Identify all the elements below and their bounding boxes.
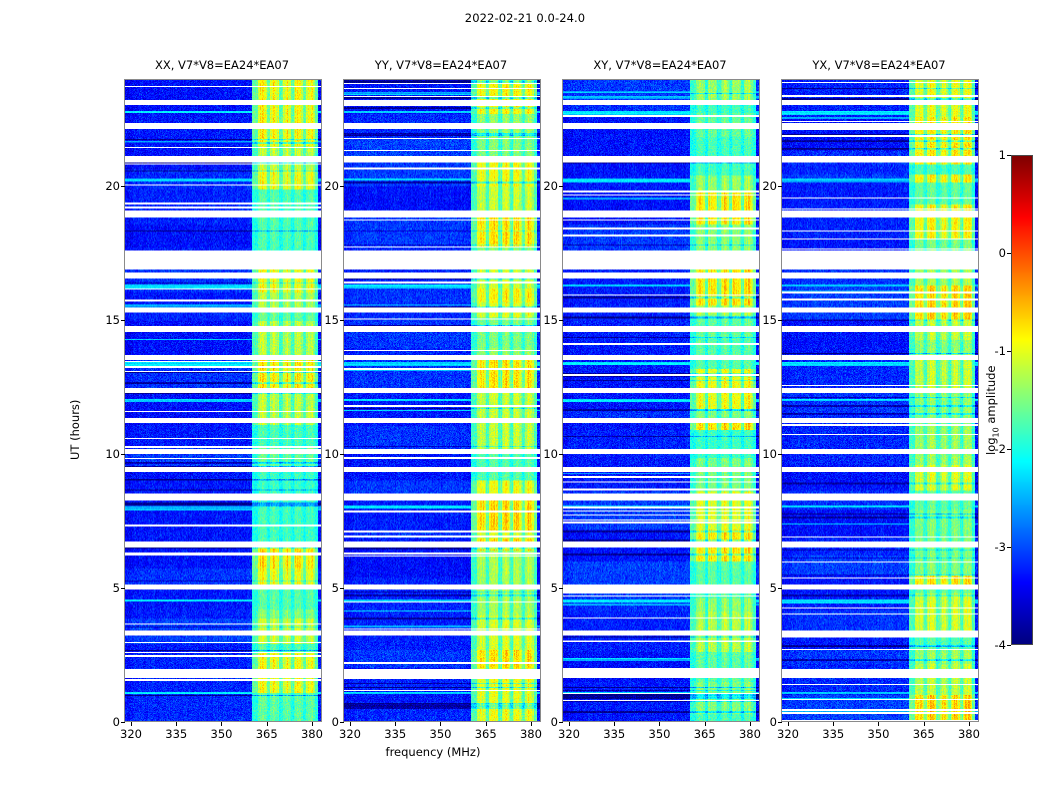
y-tick-mark — [121, 186, 125, 187]
y-tick-label: 0 — [309, 715, 339, 729]
colorbar-tick-mark — [1007, 155, 1011, 156]
y-tick-mark — [559, 588, 563, 589]
y-tick-label: 0 — [747, 715, 777, 729]
y-tick-mark — [778, 186, 782, 187]
y-tick-mark — [121, 588, 125, 589]
colorbar-tick-mark — [1007, 547, 1011, 548]
y-tick-mark — [340, 320, 344, 321]
y-tick-mark — [778, 588, 782, 589]
x-tick-label: 350 — [420, 727, 460, 741]
x-tick-mark — [833, 722, 834, 726]
x-tick-mark — [878, 722, 879, 726]
y-tick-mark — [778, 722, 782, 723]
figure-suptitle: 2022-02-21 0.0-24.0 — [0, 11, 1050, 25]
y-tick-mark — [121, 722, 125, 723]
y-tick-label: 20 — [747, 179, 777, 193]
x-tick-label: 320 — [330, 727, 370, 741]
y-tick-mark — [559, 186, 563, 187]
colorbar-tick-mark — [1007, 253, 1011, 254]
x-tick-mark — [176, 722, 177, 726]
x-tick-label: 335 — [375, 727, 415, 741]
panel-title-xy: XY, V7*V8=EA24*EA07 — [562, 57, 758, 73]
x-tick-label: 320 — [111, 727, 151, 741]
x-tick-mark — [705, 722, 706, 726]
waterfall-panel-yy[interactable] — [343, 79, 541, 722]
y-tick-label: 20 — [309, 179, 339, 193]
x-tick-label: 350 — [858, 727, 898, 741]
y-tick-label: 10 — [90, 447, 120, 461]
x-tick-label: 350 — [639, 727, 679, 741]
waterfall-panel-xy[interactable] — [562, 79, 760, 722]
colorbar-tick-label: -2 — [978, 442, 1006, 456]
y-tick-label: 15 — [90, 313, 120, 327]
x-tick-label: 365 — [247, 727, 287, 741]
colorbar-tick-label: -1 — [978, 344, 1006, 358]
colorbar-tick-label: -4 — [978, 638, 1006, 652]
x-tick-mark — [969, 722, 970, 726]
x-tick-mark — [395, 722, 396, 726]
x-tick-label: 335 — [813, 727, 853, 741]
y-tick-label: 15 — [747, 313, 777, 327]
y-tick-mark — [340, 186, 344, 187]
x-tick-label: 365 — [466, 727, 506, 741]
x-tick-label: 350 — [201, 727, 241, 741]
waterfall-panel-yx[interactable] — [781, 79, 979, 722]
x-tick-mark — [131, 722, 132, 726]
y-tick-label: 15 — [528, 313, 558, 327]
panel-title-yx: YX, V7*V8=EA24*EA07 — [781, 57, 977, 73]
y-tick-label: 0 — [528, 715, 558, 729]
colorbar-tick-label: 0 — [978, 246, 1006, 260]
x-tick-label: 320 — [549, 727, 589, 741]
y-tick-label: 0 — [90, 715, 120, 729]
y-tick-label: 5 — [747, 581, 777, 595]
x-tick-mark — [350, 722, 351, 726]
x-tick-mark — [440, 722, 441, 726]
colorbar-tick-mark — [1007, 449, 1011, 450]
y-tick-mark — [340, 454, 344, 455]
y-tick-label: 15 — [309, 313, 339, 327]
y-tick-label: 10 — [309, 447, 339, 461]
x-tick-label: 380 — [511, 727, 551, 741]
colorbar-tick-label: 1 — [978, 148, 1006, 162]
colorbar-tick-label: -3 — [978, 540, 1006, 554]
y-tick-mark — [121, 454, 125, 455]
x-tick-label: 380 — [949, 727, 989, 741]
x-tick-label: 380 — [730, 727, 770, 741]
y-tick-label: 5 — [90, 581, 120, 595]
y-tick-label: 10 — [528, 447, 558, 461]
panel-title-xx: XX, V7*V8=EA24*EA07 — [124, 57, 320, 73]
y-tick-mark — [559, 320, 563, 321]
x-tick-mark — [221, 722, 222, 726]
x-tick-mark — [267, 722, 268, 726]
y-tick-label: 10 — [747, 447, 777, 461]
y-tick-label: 5 — [309, 581, 339, 595]
x-tick-mark — [486, 722, 487, 726]
waterfall-panel-xx[interactable] — [124, 79, 322, 722]
x-tick-label: 335 — [156, 727, 196, 741]
y-tick-mark — [559, 722, 563, 723]
figure-canvas: 2022-02-21 0.0-24.0 XX, V7*V8=EA24*EA07 … — [0, 0, 1050, 800]
y-tick-mark — [121, 320, 125, 321]
x-tick-mark — [788, 722, 789, 726]
colorbar-tick-mark — [1007, 645, 1011, 646]
y-tick-mark — [340, 588, 344, 589]
y-tick-mark — [559, 454, 563, 455]
x-tick-label: 335 — [594, 727, 634, 741]
x-tick-label: 320 — [768, 727, 808, 741]
y-tick-mark — [778, 454, 782, 455]
y-tick-label: 5 — [528, 581, 558, 595]
x-tick-label: 380 — [292, 727, 332, 741]
y-axis-label: UT (hours) — [68, 400, 82, 460]
x-tick-mark — [614, 722, 615, 726]
colorbar-tick-mark — [1007, 351, 1011, 352]
x-axis-label: frequency (MHz) — [0, 745, 866, 759]
colorbar — [1011, 155, 1033, 645]
y-tick-label: 20 — [528, 179, 558, 193]
x-tick-label: 365 — [904, 727, 944, 741]
y-tick-mark — [340, 722, 344, 723]
panel-title-yy: YY, V7*V8=EA24*EA07 — [343, 57, 539, 73]
x-tick-mark — [659, 722, 660, 726]
x-tick-label: 365 — [685, 727, 725, 741]
y-tick-mark — [778, 320, 782, 321]
x-tick-mark — [569, 722, 570, 726]
x-tick-mark — [924, 722, 925, 726]
y-tick-label: 20 — [90, 179, 120, 193]
